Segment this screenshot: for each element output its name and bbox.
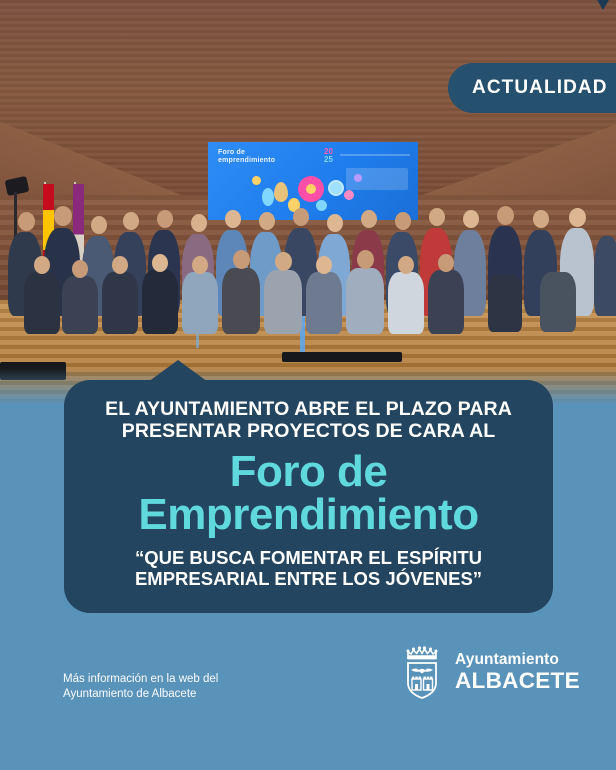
quote-line-2: EMPRESARIAL ENTRE LOS JÓVENES” (135, 568, 482, 589)
screen-title-line1: Foro de (218, 149, 245, 156)
card-pointer-triangle (148, 360, 208, 382)
screen-year: 20 25 (324, 148, 333, 164)
poster-root: Foro de emprendimiento 20 25 (0, 0, 616, 770)
badge-label: ACTUALIDAD (472, 77, 608, 99)
screen-year-bottom: 25 (324, 156, 333, 164)
footer-note: Más información en la web del Ayuntamien… (63, 672, 218, 702)
headline-line-1: EL AYUNTAMIENTO ABRE EL PLAZO PARA (105, 398, 512, 420)
albacete-coat-of-arms-icon (400, 643, 444, 701)
event-title: Foro de Emprendimiento (80, 450, 537, 536)
headline: EL AYUNTAMIENTO ABRE EL PLAZO PARA PRESE… (80, 398, 537, 442)
footer-note-line-2: Ayuntamiento de Albacete (63, 688, 196, 700)
screen-title: Foro de emprendimiento (218, 149, 275, 165)
footer-note-line-1: Más información en la web del (63, 673, 218, 685)
quote-line-1: “QUE BUSCA FOMENTAR EL ESPÍRITU (135, 547, 482, 568)
logo-line-1: Ayuntamiento (455, 652, 580, 668)
actualidad-badge[interactable]: ACTUALIDAD (448, 63, 616, 113)
subheadline-quote: “QUE BUSCA FOMENTAR EL ESPÍRITU EMPRESAR… (80, 547, 537, 589)
screen-decor-line (340, 154, 410, 156)
event-title-line-1: Foro de (230, 447, 388, 496)
headline-line-2: PRESENTAR PROYECTOS DE CARA AL (122, 420, 496, 442)
logo-line-2: ALBACETE (455, 670, 580, 693)
event-photo: Foro de emprendimiento 20 25 (0, 0, 616, 408)
stage-monitor (282, 352, 402, 362)
ayuntamiento-logo[interactable]: Ayuntamiento ALBACETE (400, 643, 580, 701)
logo-text: Ayuntamiento ALBACETE (455, 652, 580, 692)
projection-screen: Foro de emprendimiento 20 25 (208, 142, 418, 220)
headline-card: EL AYUNTAMIENTO ABRE EL PLAZO PARA PRESE… (64, 380, 553, 613)
flower-graphic (250, 168, 370, 214)
screen-title-line2: emprendimiento (218, 157, 275, 164)
event-title-line-2: Emprendimiento (138, 490, 478, 539)
